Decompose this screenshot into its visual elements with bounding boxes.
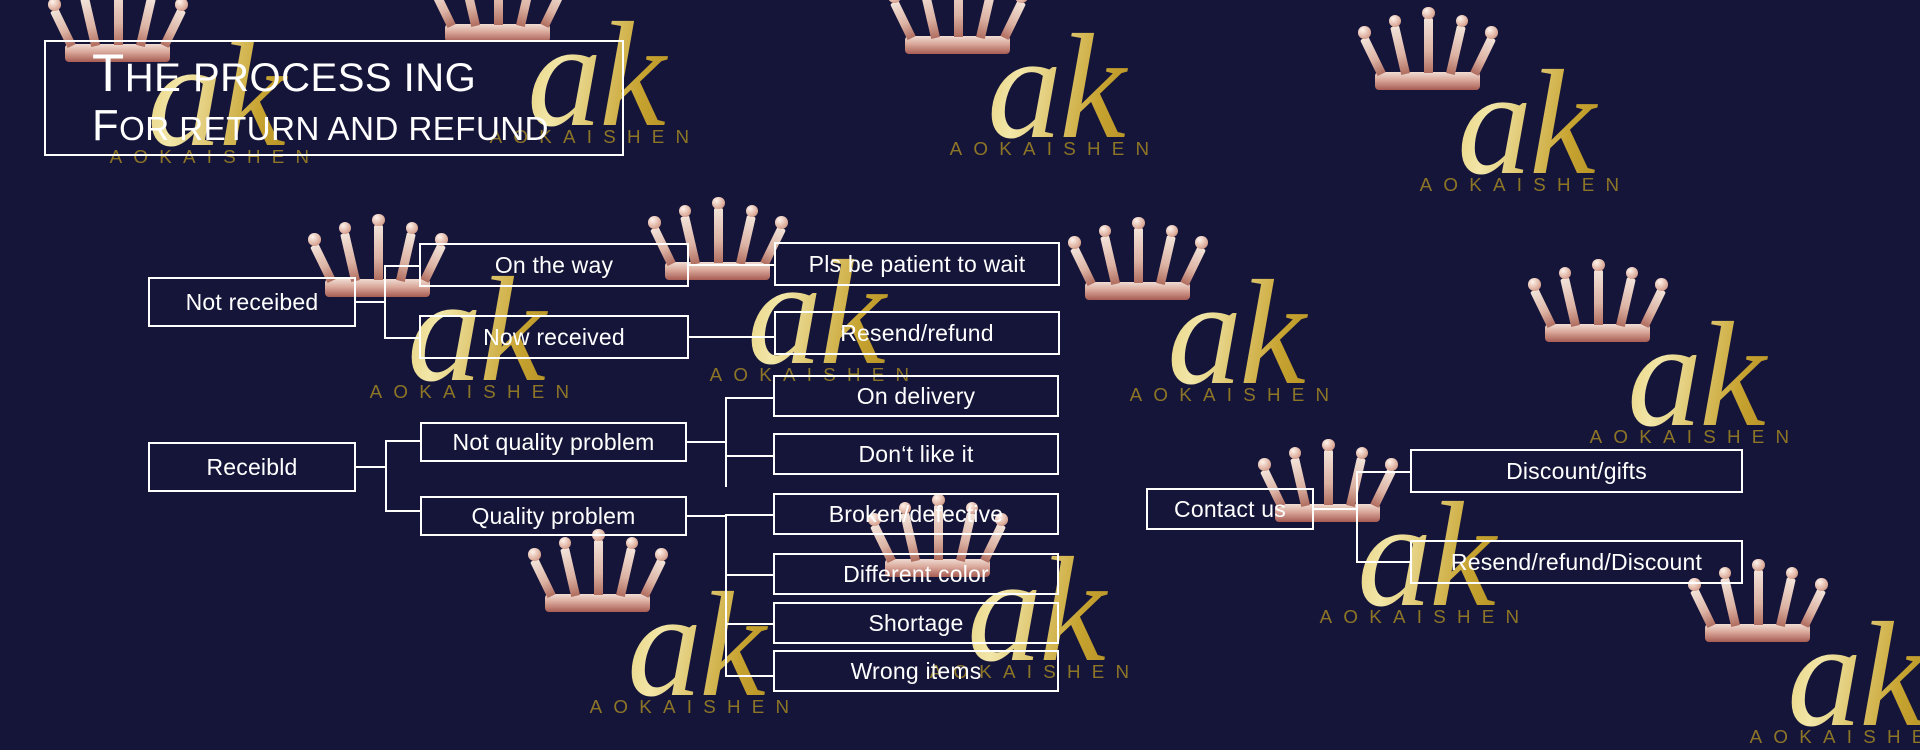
crown-icon [1375, 21, 1480, 90]
connector-contact-stub [1314, 508, 1356, 510]
watermark-brand-text: AOKAISHEN [280, 381, 670, 403]
watermark-logo: akAOKAISHEN [620, 208, 1010, 386]
watermark-logo: akAOKAISHEN [1330, 18, 1720, 196]
watermark-logo: akAOKAISHEN [1040, 228, 1430, 406]
diagram-canvas: akAOKAISHENakAOKAISHENakAOKAISHENakAOKAI… [0, 0, 1920, 750]
watermark-brand-text: AOKAISHEN [1330, 174, 1720, 196]
node-quality-problem[interactable]: Quality problem [420, 496, 687, 536]
watermark-wordmark: ak [1500, 270, 1890, 444]
connector-on-the-way-to-result [689, 264, 774, 266]
watermark-brand-text: AOKAISHEN [1500, 426, 1890, 448]
connector-dont-like-it [725, 455, 773, 457]
connector-received-spine [385, 440, 387, 512]
page-title-line-2: FOR RETURN AND REFUND [46, 105, 622, 149]
node-wrong-items[interactable]: Wrong items [773, 650, 1059, 692]
node-now-received[interactable]: Now received [419, 315, 689, 359]
connector-shortage [725, 623, 773, 625]
watermark-brand-text: AOKAISHEN [1040, 384, 1430, 406]
page-title-line-1: THE PROCESS ING [46, 48, 622, 101]
connector-discount-gifts [1356, 471, 1410, 473]
connector-on-the-way [384, 265, 419, 267]
connector-not-quality-spine [725, 397, 727, 487]
connector-quality [385, 510, 420, 512]
connector-not-quality-stub [687, 441, 725, 443]
watermark-brand-text: AOKAISHEN [1230, 606, 1620, 628]
watermark-logo: akAOKAISHEN [1660, 570, 1920, 748]
connector-not-received-spine [384, 265, 386, 338]
node-not-received[interactable]: Not receibed [148, 277, 356, 327]
node-received[interactable]: Receibld [148, 442, 356, 492]
connector-resend-refund-discount [1356, 561, 1410, 563]
page-title-line-1-rest: HE PROCESS ING [125, 56, 477, 100]
watermark-brand-text: AOKAISHEN [500, 696, 890, 718]
crown-icon [445, 0, 550, 42]
node-resend-refund-discount[interactable]: Resend/refund/Discount [1410, 540, 1743, 584]
node-not-quality-problem[interactable]: Not quality problem [420, 422, 687, 462]
node-shortage[interactable]: Shortage [773, 602, 1059, 644]
connector-now-received [384, 337, 419, 339]
crown-icon [545, 543, 650, 612]
connector-quality-spine [725, 514, 727, 675]
node-pls-be-patient[interactable]: Pls be patient to wait [774, 242, 1060, 286]
crown-icon [905, 0, 1010, 54]
watermark-logo: akAOKAISHEN [1500, 270, 1890, 448]
node-on-the-way[interactable]: On the way [419, 243, 689, 287]
node-different-color[interactable]: Different color [773, 553, 1059, 595]
watermark-wordmark: ak [1040, 228, 1430, 402]
page-title-line-1-initial: T [92, 44, 125, 103]
node-on-delivery[interactable]: On delivery [773, 375, 1059, 417]
crown-icon [1085, 231, 1190, 300]
node-contact-us[interactable]: Contact us [1146, 488, 1314, 530]
watermark-wordmark: ak [1660, 570, 1920, 744]
connector-received-stub [356, 466, 385, 468]
node-resend-refund[interactable]: Resend/refund [774, 311, 1060, 355]
connector-not-received-stub [356, 301, 384, 303]
node-discount-gifts[interactable]: Discount/gifts [1410, 449, 1743, 493]
connector-not-quality [385, 440, 420, 442]
connector-different-color [725, 574, 773, 576]
node-dont-like-it[interactable]: Don‘t like it [773, 433, 1059, 475]
connector-now-received-to-result [689, 336, 774, 338]
connector-wrong-items [725, 675, 773, 677]
connector-broken-defective [725, 514, 773, 516]
page-title-box: THE PROCESS ING FOR RETURN AND REFUND [44, 40, 624, 156]
connector-on-delivery [725, 397, 773, 399]
watermark-wordmark: ak [860, 0, 1250, 156]
connector-quality-stub [687, 515, 725, 517]
watermark-logo: akAOKAISHEN [860, 0, 1250, 160]
node-broken-defective[interactable]: Broken/defective [773, 493, 1059, 535]
watermark-brand-text: AOKAISHEN [1660, 726, 1920, 748]
connector-contact-spine [1356, 471, 1358, 563]
crown-icon [1545, 273, 1650, 342]
page-title-line-2-rest: OR RETURN AND REFUND [119, 110, 549, 147]
watermark-wordmark: ak [1330, 18, 1720, 192]
page-title-line-2-initial: F [92, 102, 119, 150]
watermark-brand-text: AOKAISHEN [860, 138, 1250, 160]
